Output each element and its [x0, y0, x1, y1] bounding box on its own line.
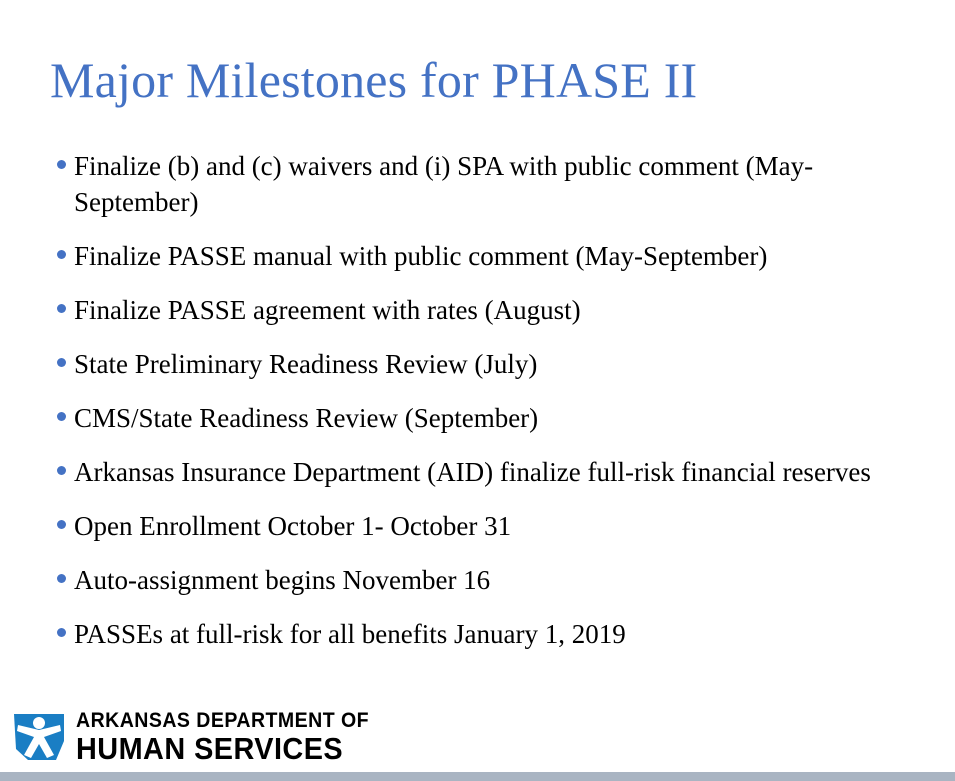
milestones-bullet-list: Finalize (b) and (c) waivers and (i) SPA… [56, 148, 936, 652]
bullet-dot-icon [57, 304, 66, 313]
logo-wordmark: ARKANSAS DEPARTMENT OF HUMAN SERVICES [76, 710, 391, 764]
bullet-dot-icon [57, 628, 66, 637]
list-item-text: Finalize (b) and (c) waivers and (i) SPA… [74, 148, 936, 220]
list-item-text: PASSEs at full-risk for all benefits Jan… [74, 616, 936, 652]
logo-line-human-services: HUMAN SERVICES [76, 733, 369, 764]
logo-line-department: ARKANSAS DEPARTMENT OF [76, 710, 369, 731]
list-item-text: Finalize PASSE manual with public commen… [74, 238, 936, 274]
bullet-dot-icon [57, 250, 66, 259]
list-item-text: State Preliminary Readiness Review (July… [74, 346, 936, 382]
list-item: Arkansas Insurance Department (AID) fina… [56, 454, 936, 490]
list-item-text: Finalize PASSE agreement with rates (Aug… [74, 292, 936, 328]
bullet-dot-icon [57, 412, 66, 421]
list-item: Open Enrollment October 1- October 31 [56, 508, 936, 544]
bullet-dot-icon [57, 574, 66, 583]
list-item: Finalize (b) and (c) waivers and (i) SPA… [56, 148, 936, 220]
list-item-text: Auto-assignment begins November 16 [74, 562, 936, 598]
bullet-dot-icon [57, 358, 66, 367]
page-title: Major Milestones for PHASE II [50, 50, 910, 110]
bullet-dot-icon [57, 466, 66, 475]
list-item: CMS/State Readiness Review (September) [56, 400, 936, 436]
list-item: Auto-assignment begins November 16 [56, 562, 936, 598]
list-item: Finalize PASSE agreement with rates (Aug… [56, 292, 936, 328]
list-item-text: Open Enrollment October 1- October 31 [74, 508, 936, 544]
arkansas-state-figure-icon [10, 711, 68, 763]
agency-logo: ARKANSAS DEPARTMENT OF HUMAN SERVICES [10, 709, 391, 765]
list-item: State Preliminary Readiness Review (July… [56, 346, 936, 382]
list-item-text: Arkansas Insurance Department (AID) fina… [74, 454, 936, 490]
list-item: PASSEs at full-risk for all benefits Jan… [56, 616, 936, 652]
list-item: Finalize PASSE manual with public commen… [56, 238, 936, 274]
list-item-text: CMS/State Readiness Review (September) [74, 400, 936, 436]
presentation-slide: Major Milestones for PHASE II Finalize (… [0, 0, 955, 781]
bottom-accent-bar [0, 772, 955, 781]
bullet-dot-icon [57, 520, 66, 529]
bullet-dot-icon [57, 160, 66, 169]
